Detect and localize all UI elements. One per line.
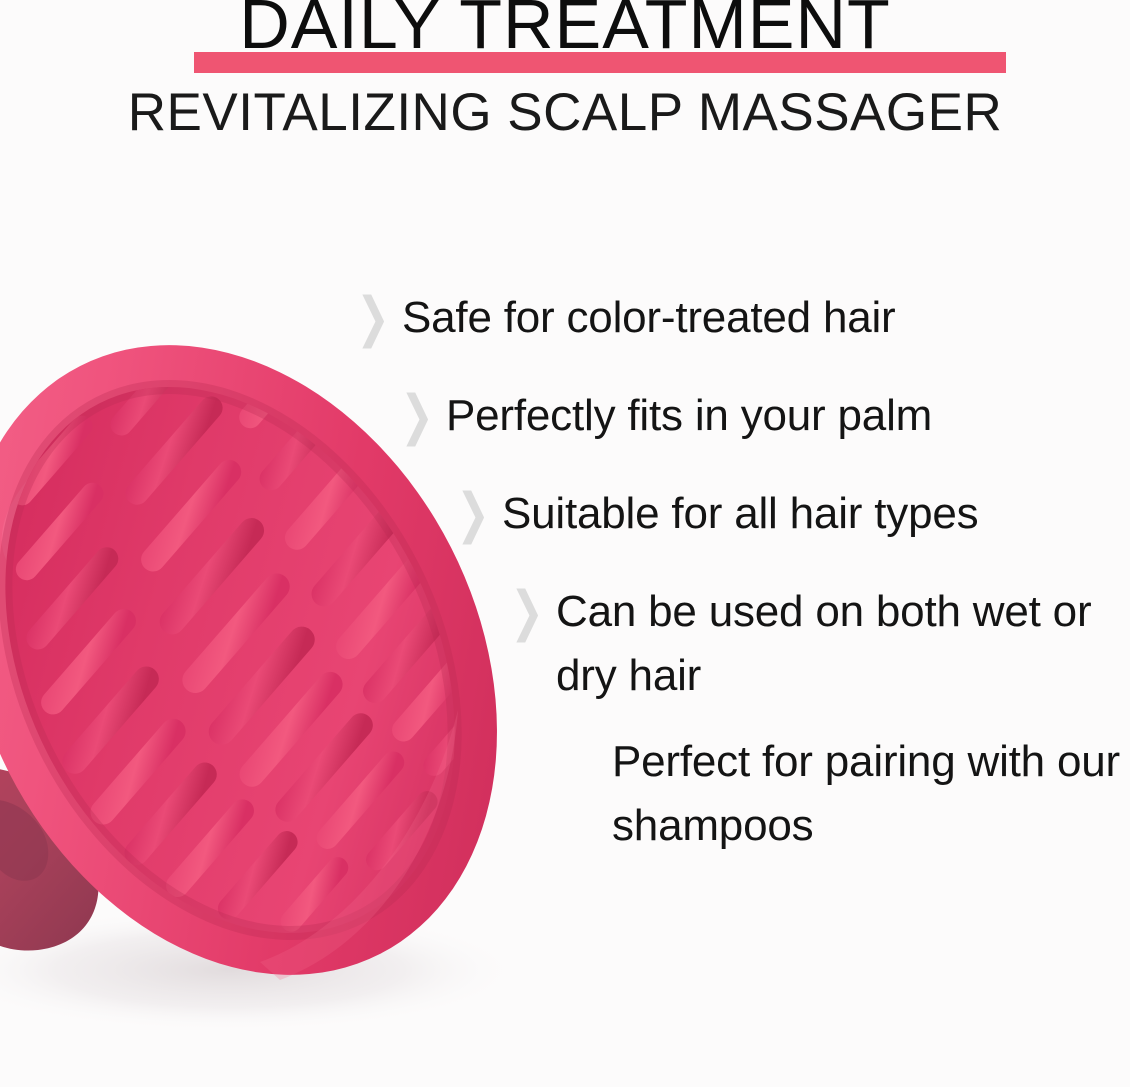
product-feature-graphic: DAILY TREATMENT REVITALIZING SCALP MASSA…: [0, 0, 1130, 1087]
list-item: ❯ Safe for color-treated hair: [0, 286, 1130, 350]
product-shadow: [0, 908, 520, 1032]
list-item: ❯ Perfect for pairing with our shampoos: [0, 730, 1130, 858]
page-subtitle: REVITALIZING SCALP MASSAGER: [0, 84, 1130, 142]
list-item-label: Safe for color-treated hair: [390, 286, 896, 350]
list-item-label: Perfectly fits in your palm: [434, 384, 932, 448]
chevron-right-icon: ❯: [510, 569, 544, 655]
page-title: DAILY TREATMENT: [0, 0, 1130, 60]
list-item-label: Suitable for all hair types: [490, 482, 978, 546]
list-item: ❯ Can be used on both wet or dry hair: [0, 580, 1130, 708]
chevron-right-icon: ❯: [456, 471, 490, 557]
feature-list: ❯ Safe for color-treated hair ❯ Perfectl…: [0, 286, 1130, 892]
chevron-right-icon: ❯: [400, 373, 434, 459]
list-item: ❯ Perfectly fits in your palm: [0, 384, 1130, 448]
chevron-right-icon: ❯: [356, 275, 390, 361]
list-item-label: Can be used on both wet or dry hair: [544, 580, 1126, 708]
list-item-label: Perfect for pairing with our shampoos: [600, 730, 1130, 858]
list-item: ❯ Suitable for all hair types: [0, 482, 1130, 546]
title-wrap: DAILY TREATMENT: [0, 0, 1130, 72]
header: DAILY TREATMENT REVITALIZING SCALP MASSA…: [0, 0, 1130, 72]
